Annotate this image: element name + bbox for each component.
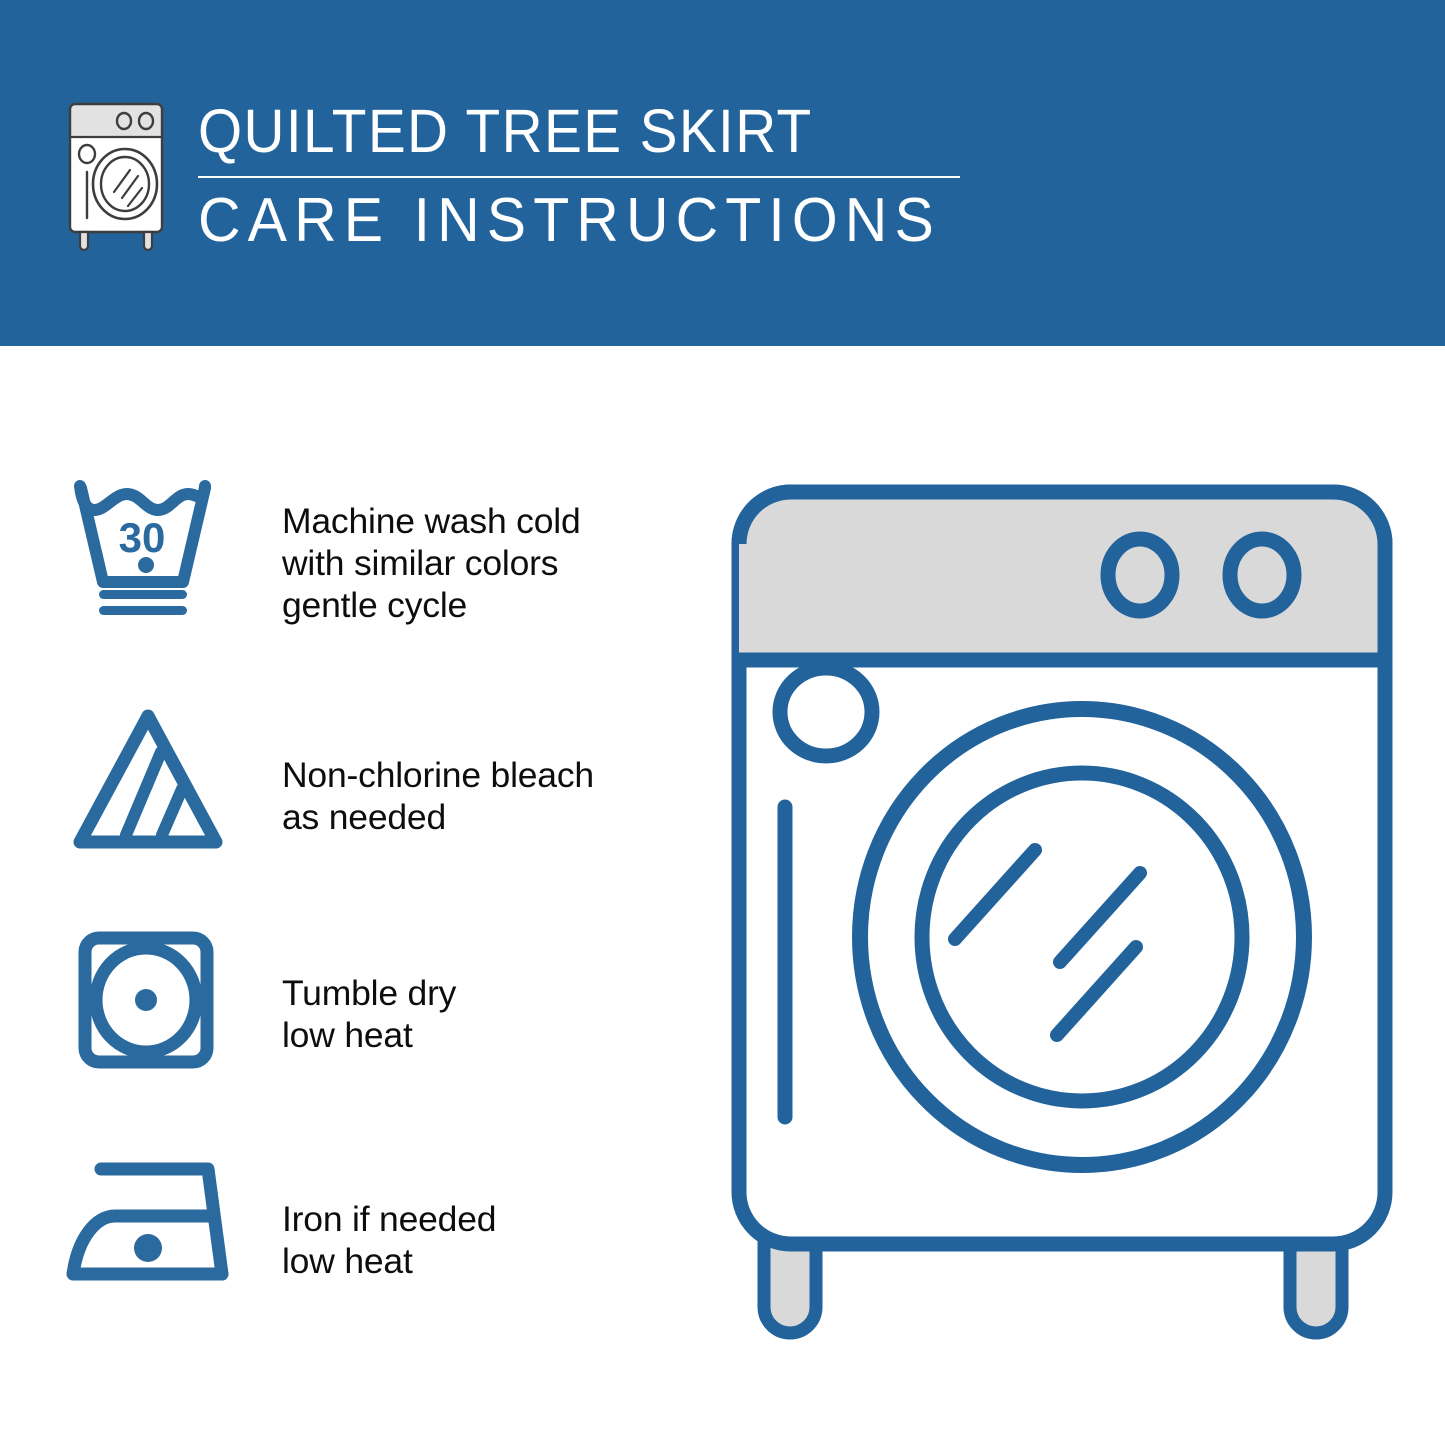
care-label-iron: Iron if needed low heat (282, 1198, 496, 1282)
care-text-cell: Tumble dry low heat (260, 930, 710, 1056)
care-icon-cell (60, 1156, 260, 1288)
care-text-cell: Iron if needed low heat (260, 1156, 710, 1282)
care-icon-cell: 30 (60, 478, 260, 620)
page-subtitle: CARE INSTRUCTIONS (198, 188, 941, 254)
care-label-dry: Tumble dry low heat (282, 972, 456, 1056)
detergent-indicator (780, 668, 872, 756)
care-label-wash: Machine wash cold with similar colors ge… (282, 500, 581, 626)
iron-low-heat-icon (62, 1156, 242, 1288)
care-instructions-infographic: QUILTED TREE SKIRT CARE INSTRUCTIONS (0, 0, 1445, 1445)
title-divider (198, 176, 960, 178)
care-text-cell: Machine wash cold with similar colors ge… (260, 478, 710, 626)
knob-right (1230, 539, 1294, 611)
care-row-wash: 30 Machine wash cold with similar colors… (60, 478, 710, 704)
care-text-cell: Non-chlorine bleach as needed (260, 704, 710, 838)
knob-left (1108, 539, 1172, 611)
care-icon-cell (60, 930, 260, 1070)
non-chlorine-bleach-triangle-icon (68, 704, 233, 854)
tumble-dry-low-icon (76, 930, 216, 1070)
header-banner: QUILTED TREE SKIRT CARE INSTRUCTIONS (0, 0, 1445, 346)
front-load-washing-machine-illustration (712, 462, 1412, 1362)
care-icon-cell (60, 704, 260, 854)
care-row-iron: Iron if needed low heat (60, 1156, 710, 1382)
care-row-dry: Tumble dry low heat (60, 930, 710, 1156)
washing-machine-icon (62, 96, 180, 256)
header-content: QUILTED TREE SKIRT CARE INSTRUCTIONS (62, 96, 980, 256)
care-label-bleach: Non-chlorine bleach as needed (282, 754, 594, 838)
care-row-bleach: Non-chlorine bleach as needed (60, 704, 710, 930)
page-title: QUILTED TREE SKIRT (198, 98, 925, 164)
care-instruction-list: 30 Machine wash cold with similar colors… (60, 478, 710, 1382)
header-text-block: QUILTED TREE SKIRT CARE INSTRUCTIONS (198, 96, 980, 254)
wash-temperature-label: 30 (119, 514, 166, 561)
wash-tub-30-icon: 30 (72, 478, 227, 620)
